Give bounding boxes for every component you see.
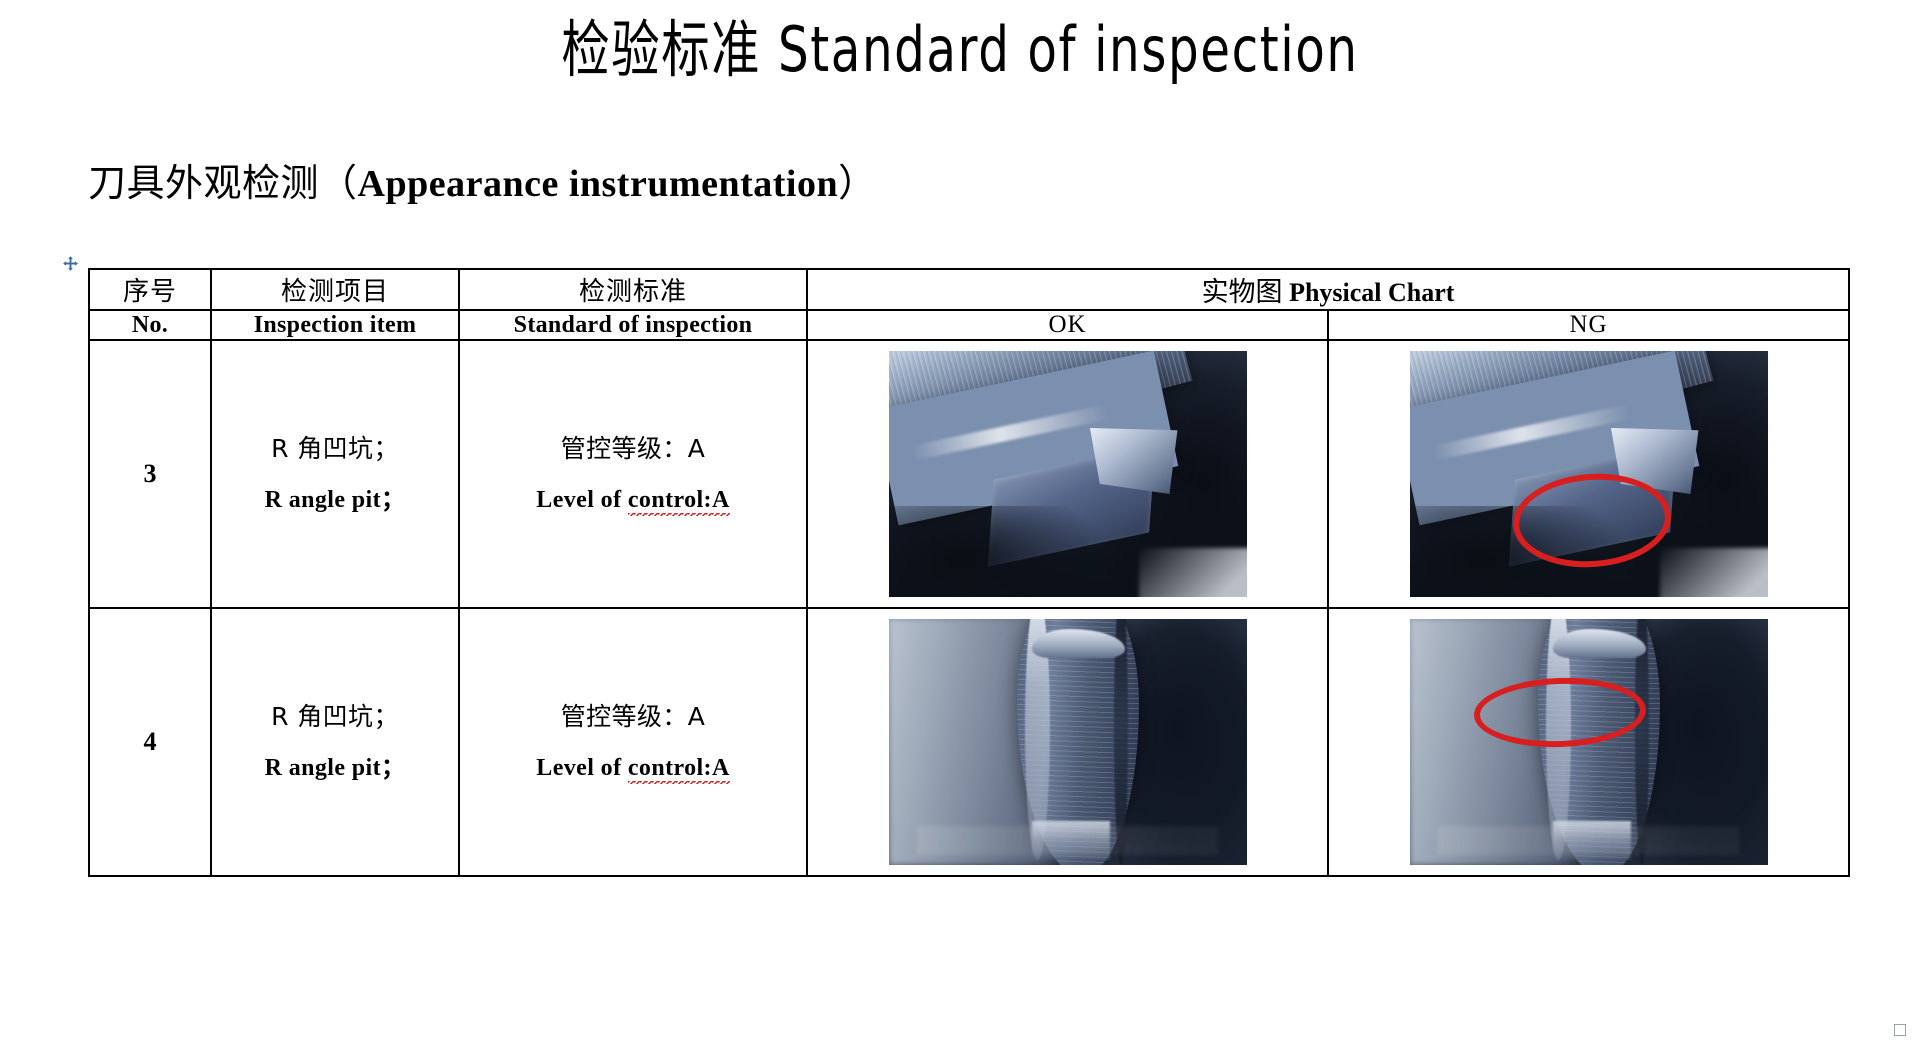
resize-handle[interactable] bbox=[1894, 1024, 1906, 1036]
table-header-row-2: No. Inspection item Standard of inspecti… bbox=[89, 310, 1849, 340]
header-item-en: Inspection item bbox=[211, 310, 459, 340]
standard-cell: 管控等级：A Level of control:A bbox=[459, 608, 807, 876]
inspection-item-cell: R 角凹坑； R angle pit； bbox=[211, 340, 459, 608]
microscope-photo-ng[interactable] bbox=[1410, 351, 1768, 597]
standard-line-cn: 管控等级：A bbox=[561, 434, 706, 463]
ok-photo-cell[interactable] bbox=[807, 340, 1328, 608]
spellcheck-underlined-text: control:A bbox=[628, 487, 730, 516]
standard-en-prefix: Level of bbox=[536, 487, 628, 513]
header-physical-chart: 实物图 Physical Chart bbox=[807, 269, 1849, 310]
row-number: 3 bbox=[89, 340, 211, 608]
subtitle-cn-suffix: ） bbox=[838, 161, 877, 205]
microscope-photo-ok[interactable] bbox=[889, 619, 1247, 865]
section-subtitle: 刀具外观检测（Appearance instrumentation） bbox=[88, 152, 877, 207]
standard-line-en: Level of control:A bbox=[460, 476, 806, 525]
row-number: 4 bbox=[89, 608, 211, 876]
slide-canvas: 检验标准 Standard of inspection 刀具外观检测（Appea… bbox=[0, 0, 1920, 1046]
standard-en-prefix: Level of bbox=[536, 755, 628, 781]
item-line-en: R angle pit； bbox=[212, 744, 458, 793]
standard-line-en: Level of control:A bbox=[460, 744, 806, 793]
inspection-item-cell: R 角凹坑； R angle pit； bbox=[211, 608, 459, 876]
header-physical-chart-en: Physical Chart bbox=[1289, 278, 1454, 307]
spellcheck-underlined-text: control:A bbox=[628, 755, 730, 784]
table-header-row-1: 序号 检测项目 检测标准 实物图 Physical Chart bbox=[89, 269, 1849, 310]
ng-photo-cell[interactable] bbox=[1328, 608, 1849, 876]
header-ok: OK bbox=[807, 310, 1328, 340]
microscope-photo-ok[interactable] bbox=[889, 351, 1247, 597]
item-line-cn: R 角凹坑； bbox=[271, 434, 399, 463]
item-line-en: R angle pit； bbox=[212, 476, 458, 525]
header-ng: NG bbox=[1328, 310, 1849, 340]
subtitle-cn-prefix: 刀具外观检测（ bbox=[88, 161, 358, 205]
header-no-cn: 序号 bbox=[89, 269, 211, 310]
ok-photo-cell[interactable] bbox=[807, 608, 1328, 876]
move-handle-icon[interactable] bbox=[62, 256, 78, 272]
ng-photo-cell[interactable] bbox=[1328, 340, 1849, 608]
header-no-en: No. bbox=[89, 310, 211, 340]
microscope-photo-ng[interactable] bbox=[1410, 619, 1768, 865]
subtitle-en: Appearance instrumentation bbox=[358, 163, 839, 205]
header-item-cn: 检测项目 bbox=[211, 269, 459, 310]
standard-line-cn: 管控等级：A bbox=[561, 702, 706, 731]
header-standard-cn: 检测标准 bbox=[459, 269, 807, 310]
standard-cell: 管控等级：A Level of control:A bbox=[459, 340, 807, 608]
header-physical-chart-cn: 实物图 bbox=[1202, 277, 1283, 308]
inspection-standard-table: 序号 检测项目 检测标准 实物图 Physical Chart No. Insp… bbox=[88, 268, 1850, 877]
table-row: 4 R 角凹坑； R angle pit； 管控等级：A Level of co… bbox=[89, 608, 1849, 876]
table-row: 3 R 角凹坑； R angle pit； 管控等级：A Level of co… bbox=[89, 340, 1849, 608]
page-title: 检验标准 Standard of inspection bbox=[211, 14, 1709, 85]
header-standard-en: Standard of inspection bbox=[459, 310, 807, 340]
item-line-cn: R 角凹坑； bbox=[271, 702, 399, 731]
